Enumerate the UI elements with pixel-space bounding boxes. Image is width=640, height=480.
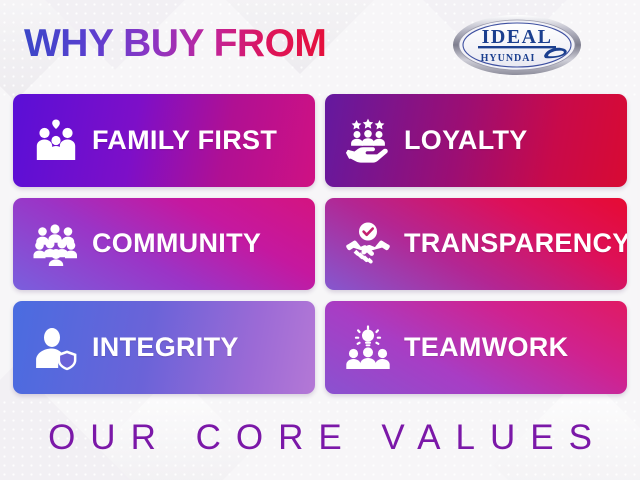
value-card-transparency[interactable]: TRANSPARENCY bbox=[325, 198, 627, 291]
hand-people-stars-icon bbox=[345, 117, 391, 163]
person-shield-icon bbox=[33, 325, 79, 371]
people-lightbulb-icon bbox=[345, 325, 391, 371]
poster-canvas: WHY BUY FROM bbox=[0, 0, 640, 480]
footer-tagline: OUR CORE VALUES bbox=[33, 416, 607, 460]
family-icon bbox=[33, 117, 79, 163]
value-card-label: LOYALTY bbox=[404, 125, 528, 156]
value-card-label: FAMILY FIRST bbox=[92, 125, 277, 156]
page-title: WHY BUY FROM bbox=[24, 22, 326, 66]
value-card-label: INTEGRITY bbox=[92, 332, 239, 363]
values-grid: FAMILY FIRST LOYALTY bbox=[13, 94, 627, 394]
header: WHY BUY FROM bbox=[0, 0, 640, 88]
value-card-community[interactable]: COMMUNITY bbox=[13, 198, 315, 291]
handshake-check-icon bbox=[345, 221, 391, 267]
footer: OUR CORE VALUES bbox=[0, 416, 640, 460]
value-card-label: TEAMWORK bbox=[404, 332, 568, 363]
ideal-hyundai-logo: IDEAL HYUNDAI bbox=[452, 14, 582, 76]
value-card-family-first[interactable]: FAMILY FIRST bbox=[13, 94, 315, 187]
logo-brand-bottom: HYUNDAI bbox=[481, 53, 536, 64]
people-group-icon bbox=[33, 221, 79, 267]
logo-brand-top: IDEAL bbox=[482, 26, 553, 48]
value-card-label: COMMUNITY bbox=[92, 228, 261, 259]
value-card-teamwork[interactable]: TEAMWORK bbox=[325, 301, 627, 394]
value-card-label: TRANSPARENCY bbox=[404, 228, 627, 259]
value-card-integrity[interactable]: INTEGRITY bbox=[13, 301, 315, 394]
value-card-loyalty[interactable]: LOYALTY bbox=[325, 94, 627, 187]
